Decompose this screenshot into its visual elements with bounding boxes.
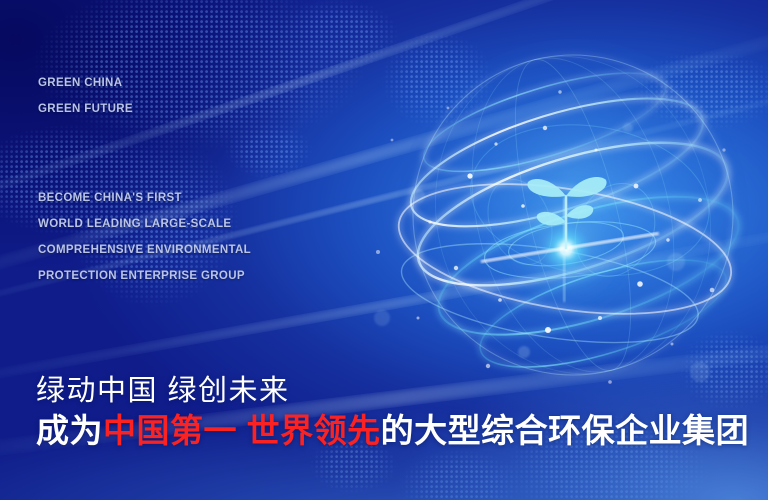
mission-line: BECOME CHINA'S FIRST: [38, 185, 251, 211]
chinese-mission-prefix: 成为: [36, 412, 103, 449]
english-tagline: GREEN CHINA GREEN FUTURE: [38, 70, 133, 122]
english-mission-statement: BECOME CHINA'S FIRST WORLD LEADING LARGE…: [38, 185, 251, 289]
promo-banner: GREEN CHINA GREEN FUTURE BECOME CHINA'S …: [0, 0, 768, 500]
mission-line: WORLD LEADING LARGE-SCALE: [38, 211, 251, 237]
mission-line: COMPREHENSIVE ENVIRONMENTAL: [38, 237, 251, 263]
chinese-mission-suffix: 的大型综合环保企业集团: [381, 412, 750, 449]
tagline-line: GREEN CHINA: [38, 70, 133, 96]
chinese-mission-highlight: 中国第一 世界领先: [103, 412, 381, 449]
chinese-mission-line: 成为中国第一 世界领先的大型综合环保企业集团: [36, 410, 749, 452]
chinese-slogan-line: 绿动中国 绿创未来: [36, 372, 749, 410]
mission-line: PROTECTION ENTERPRISE GROUP: [38, 263, 251, 289]
chinese-headline: 绿动中国 绿创未来 成为中国第一 世界领先的大型综合环保企业集团: [36, 372, 749, 452]
tagline-line: GREEN FUTURE: [38, 96, 133, 122]
